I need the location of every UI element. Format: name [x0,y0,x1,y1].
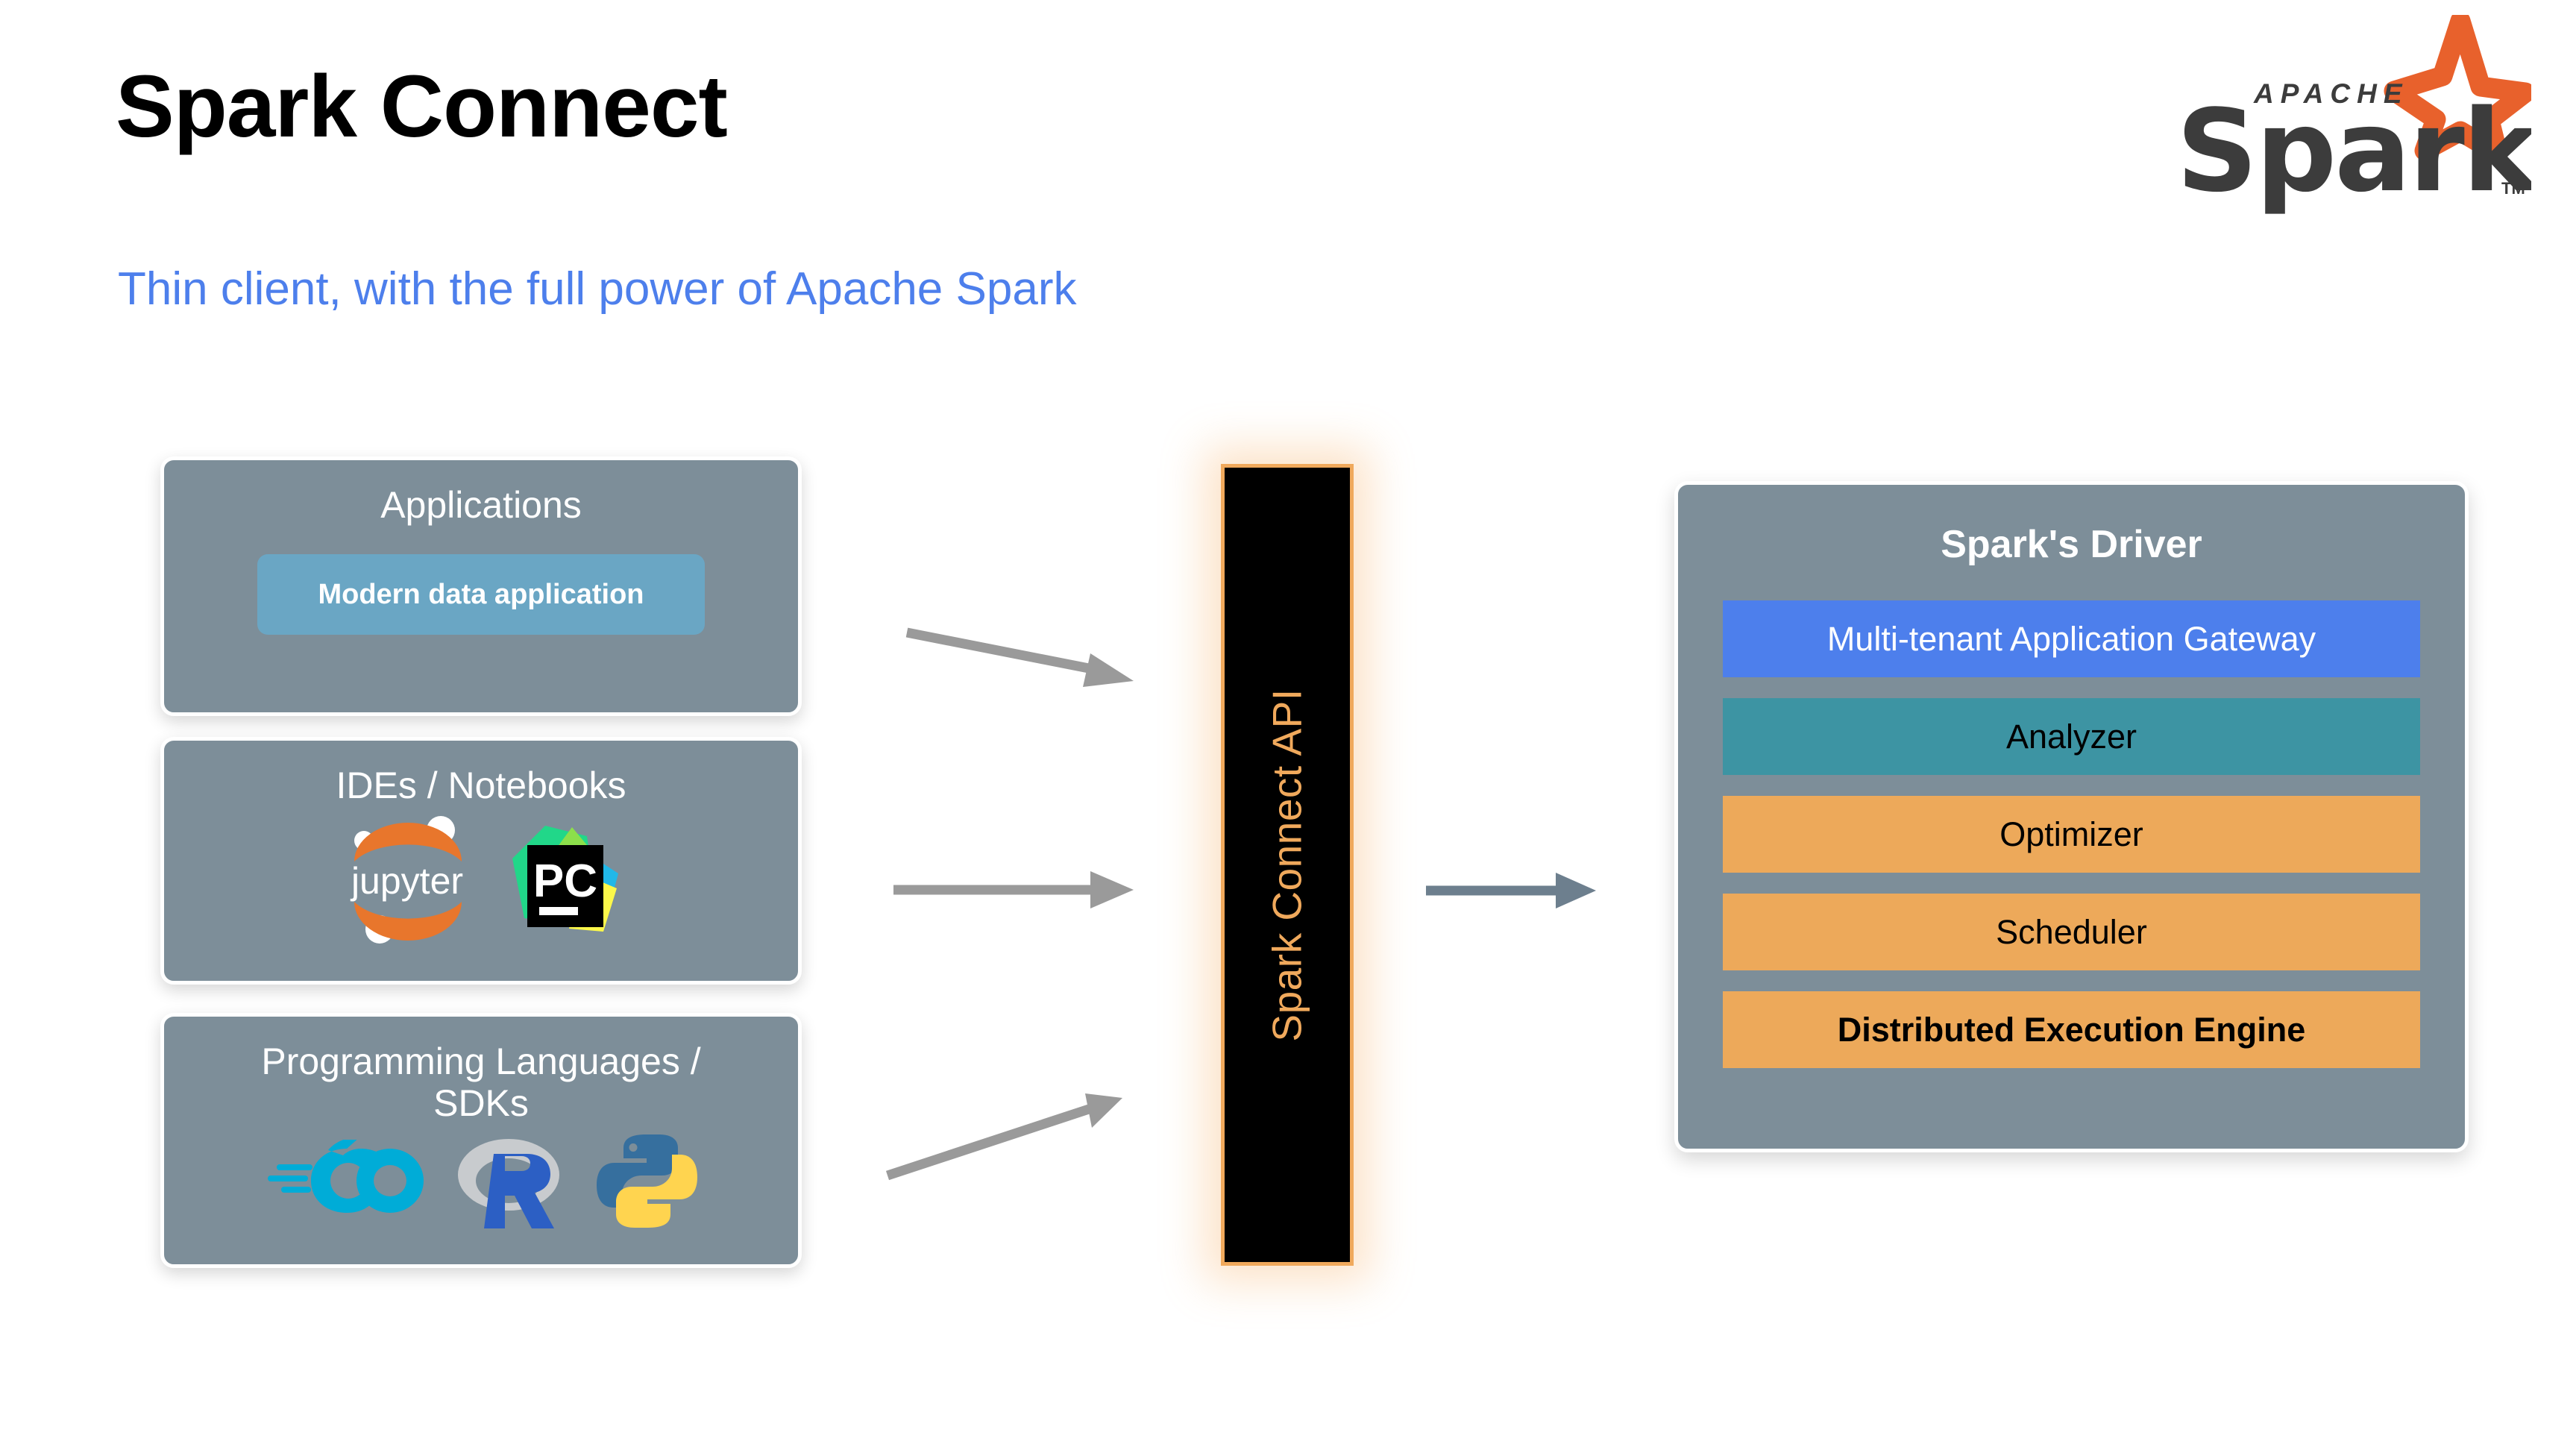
driver-row[interactable]: Analyzer [1723,698,2420,775]
driver-row[interactable]: Multi-tenant Application Gateway [1723,600,2420,677]
spark-connect-api-label: Spark Connect API [1263,688,1311,1041]
driver-row[interactable]: Distributed Execution Engine [1723,991,2420,1068]
page-title: Spark Connect [116,56,727,157]
arrow-api-to-driver [1426,873,1596,908]
driver-row-label: Analyzer [2006,718,2137,756]
driver-row-label: Scheduler [1996,913,2147,952]
spark-connect-api-bar[interactable]: Spark Connect API [1221,464,1354,1266]
svg-text:Spark: Spark [2176,85,2531,217]
apache-spark-logo: APACHE Spark TM [2158,15,2531,224]
svg-text:TM: TM [2501,179,2525,198]
arrow-languages-to-api [888,1093,1122,1176]
r-logo [455,1129,567,1233]
client-box-applications[interactable]: Applications Modern data application [160,456,802,716]
language-logo-row [164,1129,798,1233]
client-box-title-line2: SDKs [164,1082,798,1124]
pycharm-wordmark: PC [533,856,597,907]
python-logo [597,1131,697,1231]
driver-component-list: Multi-tenant Application GatewayAnalyzer… [1723,600,2420,1068]
go-logo [265,1140,425,1222]
driver-row-label: Multi-tenant Application Gateway [1827,620,2316,659]
jupyter-logo: jupyter [336,814,478,944]
page-subtitle: Thin client, with the full power of Apac… [118,263,1076,316]
modern-data-application-chip[interactable]: Modern data application [257,554,705,635]
ide-logo-row: jupyter PC [164,814,798,944]
client-box-title: Applications [164,460,798,526]
spark-driver-title: Spark's Driver [1678,485,2465,567]
driver-row-label: Optimizer [1999,815,2143,854]
arrow-ides-to-api [893,871,1134,908]
spark-driver-panel[interactable]: Spark's Driver Multi-tenant Application … [1674,481,2469,1152]
client-box-title: IDEs / Notebooks [164,741,798,806]
client-box-title: Programming Languages / SDKs [164,1017,798,1124]
jupyter-wordmark: jupyter [350,860,463,902]
driver-row[interactable]: Optimizer [1723,796,2420,873]
pycharm-logo: PC [506,820,626,939]
client-box-ides-notebooks[interactable]: IDEs / Notebooks jupyter PC [160,737,802,985]
driver-row-label: Distributed Execution Engine [1838,1011,2306,1049]
client-box-title-line1: Programming Languages / [164,1040,798,1082]
driver-row[interactable]: Scheduler [1723,894,2420,970]
arrow-applications-to-api [907,633,1134,687]
client-box-programming-languages[interactable]: Programming Languages / SDKs [160,1013,802,1268]
